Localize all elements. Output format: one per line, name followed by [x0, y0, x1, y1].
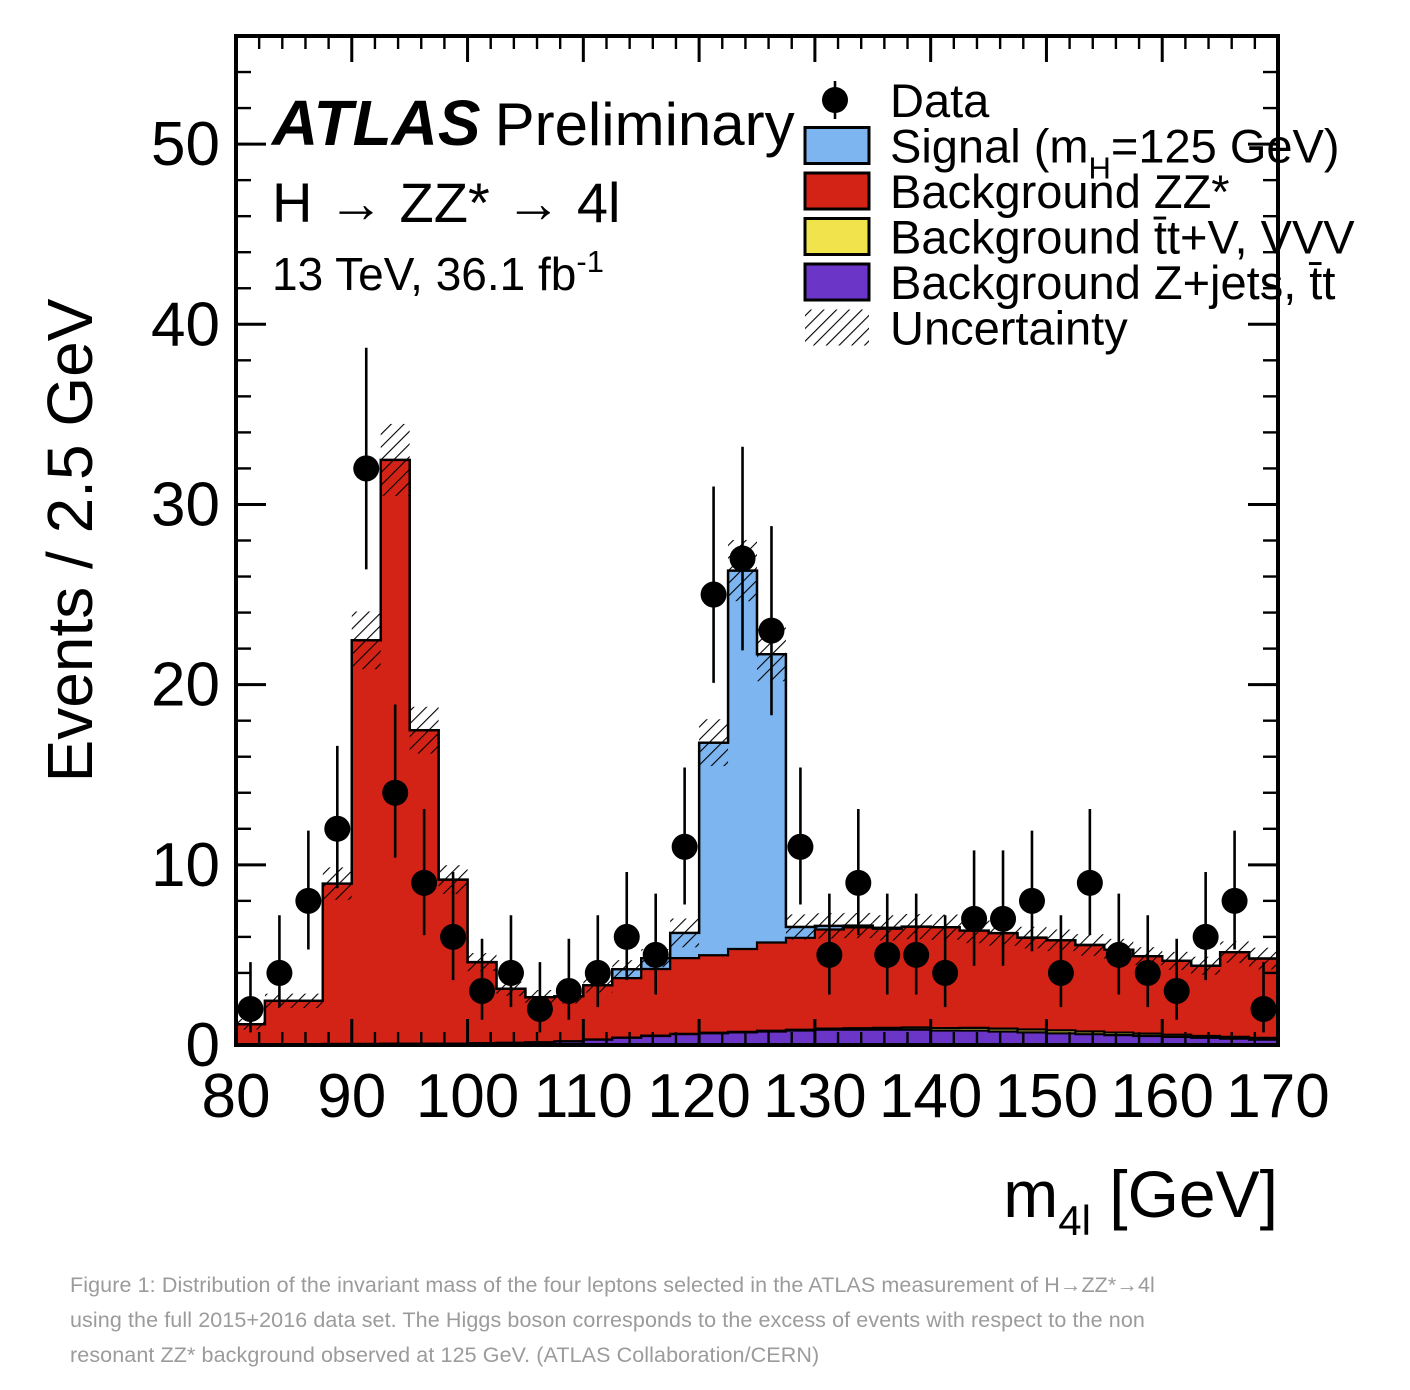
figure-caption: Figure 1: Distribution of the invariant … [70, 1268, 1360, 1373]
data-marker [787, 834, 813, 860]
data-marker [498, 960, 524, 986]
data-marker [643, 942, 669, 968]
data-marker [932, 960, 958, 986]
data-marker [556, 978, 582, 1004]
atlas-annotation: ATLASPreliminaryH → ZZ* → 4l13 TeV, 36.1… [270, 87, 795, 300]
y-axis-title: Events / 2.5 GeV [34, 298, 106, 782]
y-tick-label: 20 [151, 651, 220, 720]
legend-swatch-2 [805, 173, 869, 209]
data-marker [672, 834, 698, 860]
x-tick-label: 170 [1226, 1062, 1329, 1131]
x-axis-title: m4l [GeV] [1003, 1157, 1278, 1244]
data-marker [411, 870, 437, 896]
data-marker [1222, 888, 1248, 914]
data-marker [614, 924, 640, 950]
channel-label: H → ZZ* → 4l [272, 171, 620, 234]
atlas-label: ATLASPreliminary [270, 87, 795, 159]
data-marker [1135, 960, 1161, 986]
data-marker [730, 546, 756, 572]
data-marker [816, 942, 842, 968]
data-marker [874, 942, 900, 968]
x-tick-label: 100 [416, 1062, 519, 1131]
legend-swatch-3 [805, 219, 869, 255]
x-tick-label: 150 [995, 1062, 1098, 1131]
y-tick-label: 30 [151, 470, 220, 539]
data-marker [353, 455, 379, 481]
data-marker [990, 906, 1016, 932]
x-tick-label: 130 [763, 1062, 866, 1131]
data-marker [903, 942, 929, 968]
legend-swatch-uncertainty [805, 310, 869, 346]
data-marker [585, 960, 611, 986]
data-marker [701, 582, 727, 608]
data-marker [1164, 978, 1190, 1004]
x-tick-label: 90 [317, 1062, 386, 1131]
data-marker [1077, 870, 1103, 896]
y-tick-label: 0 [186, 1011, 220, 1080]
data-marker [1019, 888, 1045, 914]
data-marker [382, 780, 408, 806]
legend-swatch-1 [805, 128, 869, 164]
y-tick-label: 10 [151, 831, 220, 900]
chart-legend: DataSignal (mH=125 GeV)Background ZZ*Bac… [805, 74, 1355, 355]
data-marker [961, 906, 987, 932]
data-marker [1048, 960, 1074, 986]
caption-line-3: resonant ZZ* background observed at 125 … [70, 1338, 1360, 1373]
data-marker [845, 870, 871, 896]
data-marker [758, 618, 784, 644]
data-marker [266, 960, 292, 986]
data-marker [469, 978, 495, 1004]
x-tick-label: 120 [647, 1062, 750, 1131]
caption-line-1: Figure 1: Distribution of the invariant … [70, 1268, 1360, 1303]
legend-label-5: Uncertainty [890, 302, 1128, 355]
data-marker [527, 996, 553, 1022]
data-marker [295, 888, 321, 914]
figure-page: 809010011012013014015016017001020304050E… [0, 0, 1410, 1390]
x-tick-label: 160 [1110, 1062, 1213, 1131]
data-marker [324, 816, 350, 842]
luminosity-label: 13 TeV, 36.1 fb-1 [272, 244, 604, 300]
caption-line-2: using the full 2015+2016 data set. The H… [70, 1303, 1360, 1338]
data-marker [440, 924, 466, 950]
legend-swatch-4 [805, 264, 869, 300]
y-tick-label: 50 [151, 110, 220, 179]
data-marker [1106, 942, 1132, 968]
data-marker [1193, 924, 1219, 950]
y-tick-label: 40 [151, 290, 220, 359]
x-tick-label: 140 [879, 1062, 982, 1131]
x-tick-label: 110 [534, 1062, 633, 1131]
atlas-m4l-chart: 809010011012013014015016017001020304050E… [0, 0, 1410, 1250]
chart-figure: 809010011012013014015016017001020304050E… [0, 0, 1410, 1250]
